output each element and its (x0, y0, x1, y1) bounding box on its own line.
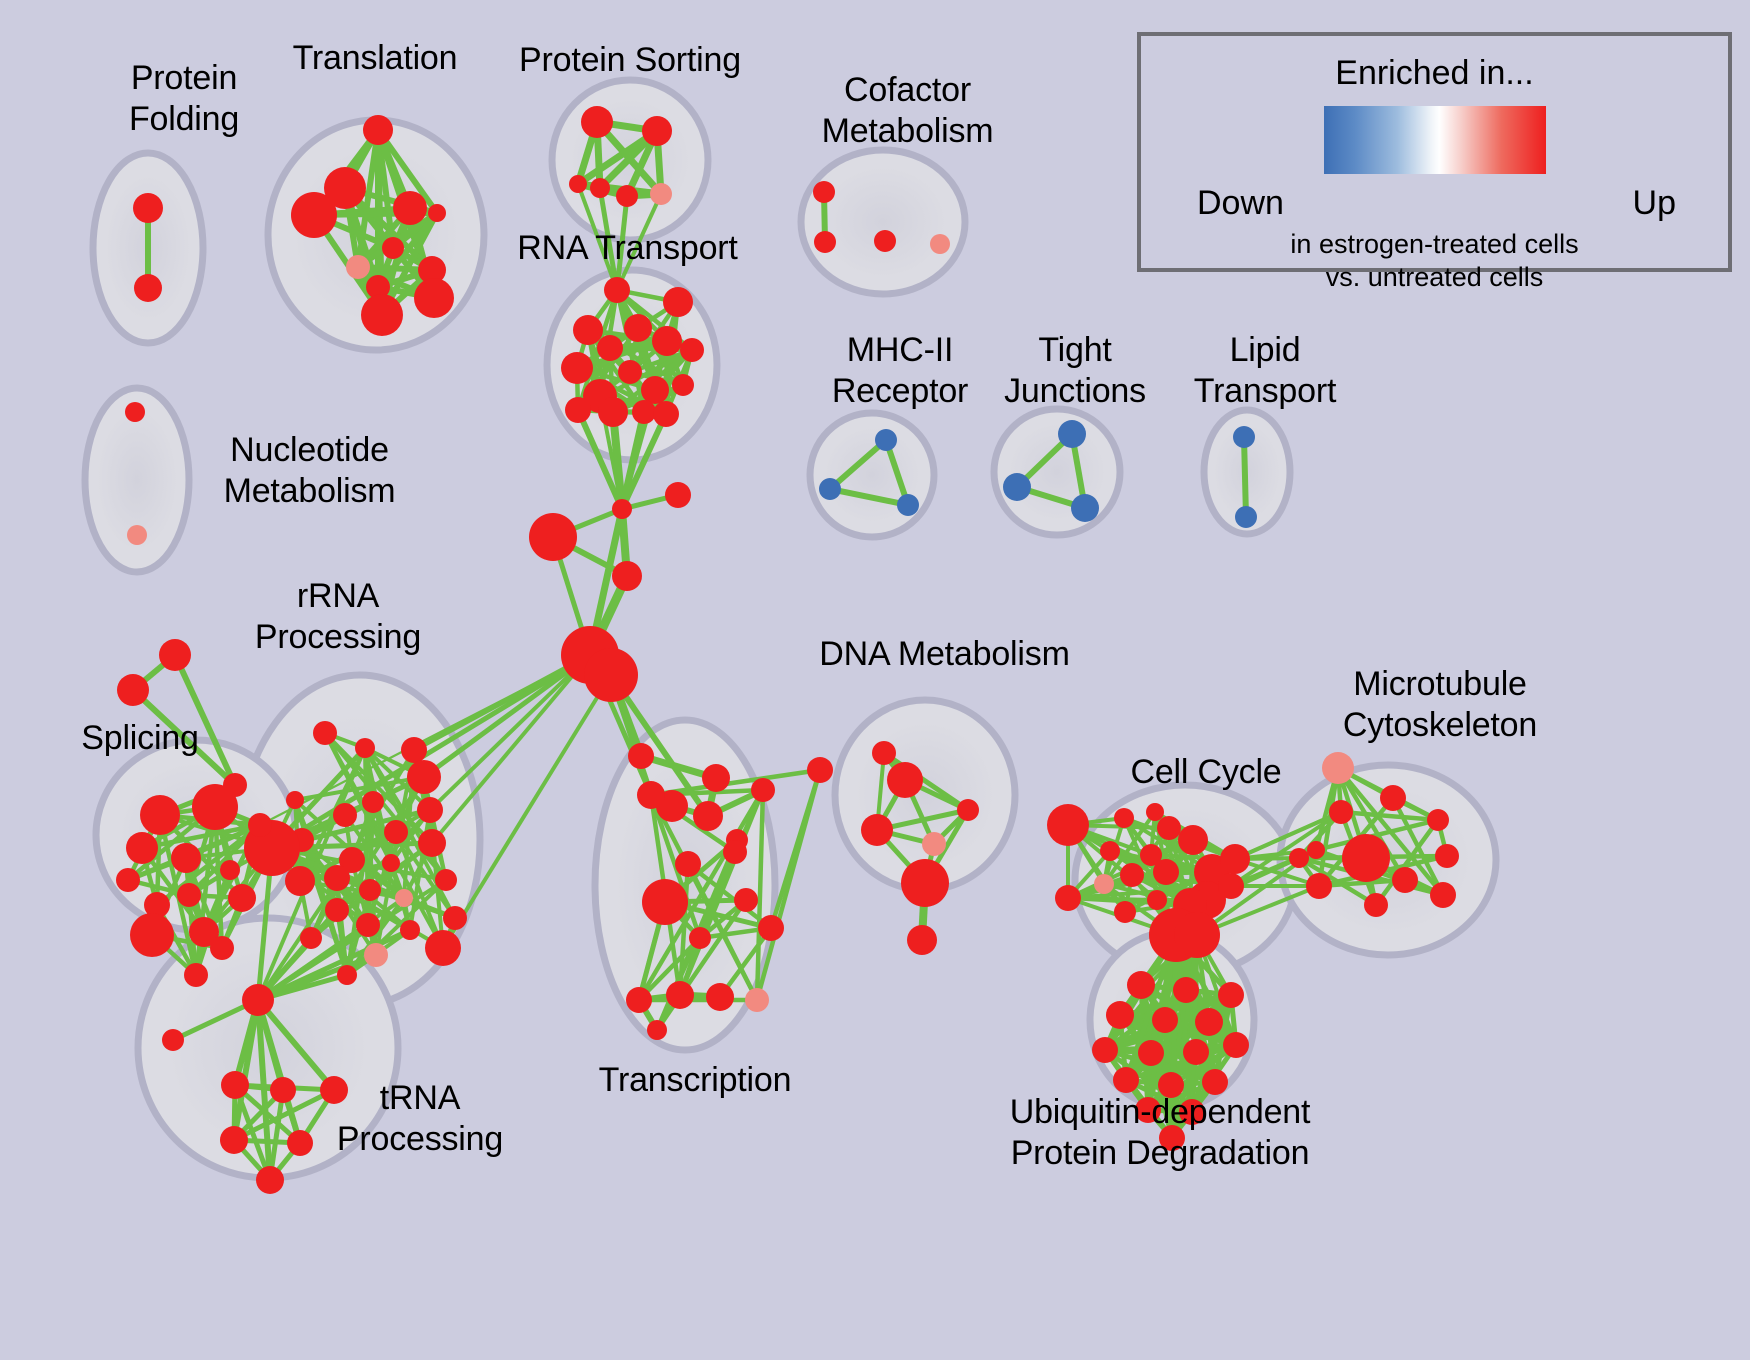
network-node[interactable] (1092, 1037, 1118, 1063)
network-node[interactable] (418, 829, 446, 857)
cluster-label-rrna-processing: rRNAProcessing (228, 576, 448, 658)
legend-subtitle-line2: vs. untreated cells (1141, 261, 1728, 294)
network-node[interactable] (1146, 803, 1164, 821)
network-node[interactable] (130, 913, 174, 957)
network-node[interactable] (665, 482, 691, 508)
network-node[interactable] (171, 843, 201, 873)
cluster-label-line: Lipid (1165, 330, 1365, 371)
cluster-label-ubiquitin-protein-degradation: Ubiquitin-dependentProtein Degradation (985, 1092, 1335, 1174)
network-node[interactable] (693, 801, 723, 831)
network-node[interactable] (618, 360, 642, 384)
network-node[interactable] (666, 981, 694, 1009)
cluster-label-dna-metabolism: DNA Metabolism (812, 634, 1077, 675)
legend-down-label: Down (1197, 184, 1284, 223)
network-node[interactable] (363, 115, 393, 145)
network-node[interactable] (162, 1029, 184, 1051)
network-node[interactable] (127, 525, 147, 545)
network-node[interactable] (256, 1166, 284, 1194)
network-node[interactable] (1003, 473, 1031, 501)
network-node[interactable] (702, 764, 730, 792)
network-node[interactable] (1223, 1032, 1249, 1058)
network-node[interactable] (647, 1020, 667, 1040)
cluster-label-line: Metabolism (790, 111, 1025, 152)
network-node[interactable] (337, 965, 357, 985)
network-node[interactable] (401, 737, 427, 763)
network-node[interactable] (1380, 785, 1406, 811)
network-node[interactable] (672, 374, 694, 396)
network-node[interactable] (653, 401, 679, 427)
network-node[interactable] (1178, 825, 1208, 855)
cluster-label-line: Junctions (975, 371, 1175, 412)
network-node[interactable] (285, 866, 315, 896)
network-node[interactable] (907, 925, 937, 955)
network-node[interactable] (680, 338, 704, 362)
network-node[interactable] (126, 832, 158, 864)
network-node[interactable] (400, 920, 420, 940)
network-node[interactable] (875, 429, 897, 451)
network-node[interactable] (1173, 977, 1199, 1003)
network-node[interactable] (650, 183, 672, 205)
network-node[interactable] (1329, 800, 1353, 824)
network-node[interactable] (637, 781, 665, 809)
network-node[interactable] (417, 797, 443, 823)
network-node[interactable] (751, 778, 775, 802)
network-node[interactable] (1138, 1040, 1164, 1066)
cluster-label-line: Tight (975, 330, 1175, 371)
network-node[interactable] (1218, 873, 1244, 899)
network-node[interactable] (626, 987, 652, 1013)
cluster-label-line: Receptor (800, 371, 1000, 412)
network-node[interactable] (1174, 912, 1220, 958)
network-node[interactable] (1233, 426, 1255, 448)
legend-title: Enriched in... (1141, 54, 1728, 93)
network-node[interactable] (872, 741, 896, 765)
network-node[interactable] (1289, 848, 1309, 868)
cluster-hull-mhc-ii-receptor (810, 413, 934, 537)
network-node[interactable] (325, 898, 349, 922)
cluster-label-splicing: Splicing (55, 718, 225, 759)
network-node[interactable] (584, 648, 638, 702)
network-node[interactable] (1127, 971, 1155, 999)
network-node[interactable] (1218, 982, 1244, 1008)
network-node[interactable] (642, 879, 688, 925)
network-node[interactable] (242, 984, 274, 1016)
network-node[interactable] (125, 402, 145, 422)
network-node[interactable] (573, 315, 603, 345)
cluster-label-line: MHC-II (800, 330, 1000, 371)
network-node[interactable] (140, 795, 180, 835)
cluster-label-rna-transport: RNA Transport (495, 228, 760, 269)
cluster-label-line: Folding (84, 99, 284, 140)
network-node[interactable] (133, 193, 163, 223)
network-node[interactable] (632, 400, 656, 424)
network-node[interactable] (1307, 841, 1325, 859)
network-node[interactable] (425, 930, 461, 966)
network-node[interactable] (652, 326, 682, 356)
network-node[interactable] (1114, 901, 1136, 923)
network-node[interactable] (861, 814, 893, 846)
network-node[interactable] (1157, 816, 1181, 840)
cluster-label-line: Processing (310, 1119, 530, 1160)
network-node[interactable] (333, 803, 357, 827)
legend-up-label: Up (1633, 184, 1676, 223)
color-gradient-bar (1324, 106, 1546, 174)
network-node[interactable] (1220, 844, 1250, 874)
network-node[interactable] (355, 738, 375, 758)
network-node[interactable] (1094, 874, 1114, 894)
cluster-label-protein-sorting: Protein Sorting (500, 40, 760, 81)
cluster-label-cofactor-metabolism: CofactorMetabolism (790, 70, 1025, 152)
network-node[interactable] (117, 674, 149, 706)
cluster-label-trna-processing: tRNAProcessing (310, 1078, 530, 1160)
network-node[interactable] (814, 231, 836, 253)
network-node[interactable] (414, 278, 454, 318)
network-node[interactable] (642, 116, 672, 146)
network-node[interactable] (221, 1071, 249, 1099)
cluster-label-line: DNA Metabolism (812, 634, 1077, 675)
network-node[interactable] (1306, 873, 1332, 899)
cluster-label-line: tRNA (310, 1078, 530, 1119)
network-node[interactable] (598, 397, 628, 427)
network-node[interactable] (930, 234, 950, 254)
network-node[interactable] (616, 185, 638, 207)
network-node[interactable] (393, 191, 427, 225)
network-node[interactable] (248, 813, 272, 837)
network-node[interactable] (957, 799, 979, 821)
cluster-label-line: Nucleotide (192, 430, 427, 471)
network-node[interactable] (813, 181, 835, 203)
cluster-label-line: Cytoskeleton (1310, 705, 1570, 746)
cluster-label-line: Metabolism (192, 471, 427, 512)
cluster-label-line: Ubiquitin-dependent (985, 1092, 1335, 1133)
network-node[interactable] (689, 927, 711, 949)
network-node[interactable] (734, 888, 758, 912)
network-node[interactable] (565, 397, 591, 423)
cluster-label-line: Microtubule (1310, 664, 1570, 705)
network-node[interactable] (313, 721, 337, 745)
network-node[interactable] (270, 1077, 296, 1103)
network-node[interactable] (819, 478, 841, 500)
network-node[interactable] (1147, 890, 1167, 910)
network-node[interactable] (569, 175, 587, 193)
cluster-label-line: Cell Cycle (1106, 752, 1306, 793)
network-node[interactable] (134, 274, 162, 302)
network-node[interactable] (1153, 859, 1179, 885)
network-node[interactable] (901, 859, 949, 907)
network-node[interactable] (675, 851, 701, 877)
network-node[interactable] (356, 913, 380, 937)
network-node[interactable] (384, 820, 408, 844)
network-node[interactable] (220, 860, 240, 880)
network-node[interactable] (362, 791, 384, 813)
network-node[interactable] (395, 889, 413, 907)
network-node[interactable] (624, 314, 652, 342)
network-edge (424, 655, 590, 777)
network-node[interactable] (228, 884, 256, 912)
cluster-label-protein-folding: ProteinFolding (84, 58, 284, 140)
network-node[interactable] (1055, 885, 1081, 911)
network-edge (414, 655, 590, 750)
network-node[interactable] (628, 743, 654, 769)
cluster-label-line: rRNA (228, 576, 448, 617)
network-node[interactable] (1235, 506, 1257, 528)
network-node[interactable] (192, 784, 238, 830)
network-node[interactable] (407, 760, 441, 794)
network-node[interactable] (177, 883, 201, 907)
network-node[interactable] (359, 879, 381, 901)
network-node[interactable] (723, 840, 747, 864)
cluster-label-line: Protein Sorting (500, 40, 760, 81)
network-node[interactable] (1430, 882, 1456, 908)
network-node[interactable] (1120, 863, 1144, 887)
cluster-label-nucleotide-metabolism: NucleotideMetabolism (192, 430, 427, 512)
network-node[interactable] (324, 865, 350, 891)
network-edge (1244, 437, 1246, 517)
network-node[interactable] (561, 352, 593, 384)
cluster-label-tight-junctions: TightJunctions (975, 330, 1175, 412)
cluster-label-translation: Translation (255, 38, 495, 79)
network-node[interactable] (1100, 841, 1120, 861)
network-node[interactable] (887, 762, 923, 798)
network-node[interactable] (300, 927, 322, 949)
cluster-label-line: Protein (84, 58, 284, 99)
network-node[interactable] (435, 869, 457, 891)
network-node[interactable] (1435, 844, 1459, 868)
network-node[interactable] (1071, 494, 1099, 522)
network-node[interactable] (1058, 420, 1086, 448)
network-node[interactable] (745, 988, 769, 1012)
network-node[interactable] (663, 287, 693, 317)
network-node[interactable] (597, 335, 623, 361)
network-node[interactable] (1364, 893, 1388, 917)
network-node[interactable] (382, 854, 400, 872)
cluster-label-line: Translation (255, 38, 495, 79)
legend-box: Enriched in... Down Up in estrogen-treat… (1137, 32, 1732, 272)
cluster-label-transcription: Transcription (570, 1060, 820, 1101)
network-node[interactable] (116, 868, 140, 892)
cluster-hull-tight-junctions (994, 409, 1120, 535)
network-node[interactable] (361, 294, 403, 336)
network-node[interactable] (1106, 1001, 1134, 1029)
network-node[interactable] (612, 561, 642, 591)
network-node[interactable] (529, 513, 577, 561)
network-node[interactable] (291, 192, 337, 238)
network-node[interactable] (641, 376, 669, 404)
legend-subtitle-line1: in estrogen-treated cells (1141, 228, 1728, 261)
network-node[interactable] (874, 230, 896, 252)
network-node[interactable] (1392, 867, 1418, 893)
cluster-label-line: RNA Transport (495, 228, 760, 269)
network-node[interactable] (159, 639, 191, 671)
cluster-label-line: Splicing (55, 718, 225, 759)
network-node[interactable] (758, 915, 784, 941)
cluster-label-line: Processing (228, 617, 448, 658)
enrichment-network-figure: ProteinFoldingTranslationProtein Sorting… (0, 0, 1750, 1360)
network-node[interactable] (897, 494, 919, 516)
cluster-label-lipid-transport: LipidTransport (1165, 330, 1365, 412)
network-node[interactable] (1114, 808, 1134, 828)
cluster-label-microtubule-cytoskeleton: MicrotubuleCytoskeleton (1310, 664, 1570, 746)
network-node[interactable] (184, 963, 208, 987)
network-node[interactable] (210, 936, 234, 960)
network-node[interactable] (220, 1126, 248, 1154)
network-node[interactable] (1113, 1067, 1139, 1093)
network-node[interactable] (612, 499, 632, 519)
network-node[interactable] (590, 178, 610, 198)
network-node[interactable] (807, 757, 833, 783)
network-node[interactable] (581, 106, 613, 138)
cluster-label-line: Protein Degradation (985, 1133, 1335, 1174)
network-node[interactable] (1152, 1007, 1178, 1033)
cluster-label-line: Transport (1165, 371, 1365, 412)
legend-subtitle: in estrogen-treated cells vs. untreated … (1141, 228, 1728, 294)
network-node[interactable] (1342, 834, 1390, 882)
network-node[interactable] (1427, 809, 1449, 831)
cluster-label-line: Cofactor (790, 70, 1025, 111)
network-node[interactable] (346, 255, 370, 279)
network-node[interactable] (443, 906, 467, 930)
network-node[interactable] (382, 237, 404, 259)
network-node[interactable] (1322, 752, 1354, 784)
network-node[interactable] (1195, 1008, 1223, 1036)
network-node[interactable] (922, 832, 946, 856)
network-node[interactable] (428, 204, 446, 222)
cluster-label-cell-cycle: Cell Cycle (1106, 752, 1306, 793)
network-node[interactable] (706, 983, 734, 1011)
network-node[interactable] (286, 791, 304, 809)
cluster-label-line: Transcription (570, 1060, 820, 1101)
cluster-label-mhc-ii-receptor: MHC-IIReceptor (800, 330, 1000, 412)
network-node[interactable] (1183, 1039, 1209, 1065)
network-node[interactable] (364, 943, 388, 967)
network-node[interactable] (604, 277, 630, 303)
network-node[interactable] (1047, 804, 1089, 846)
